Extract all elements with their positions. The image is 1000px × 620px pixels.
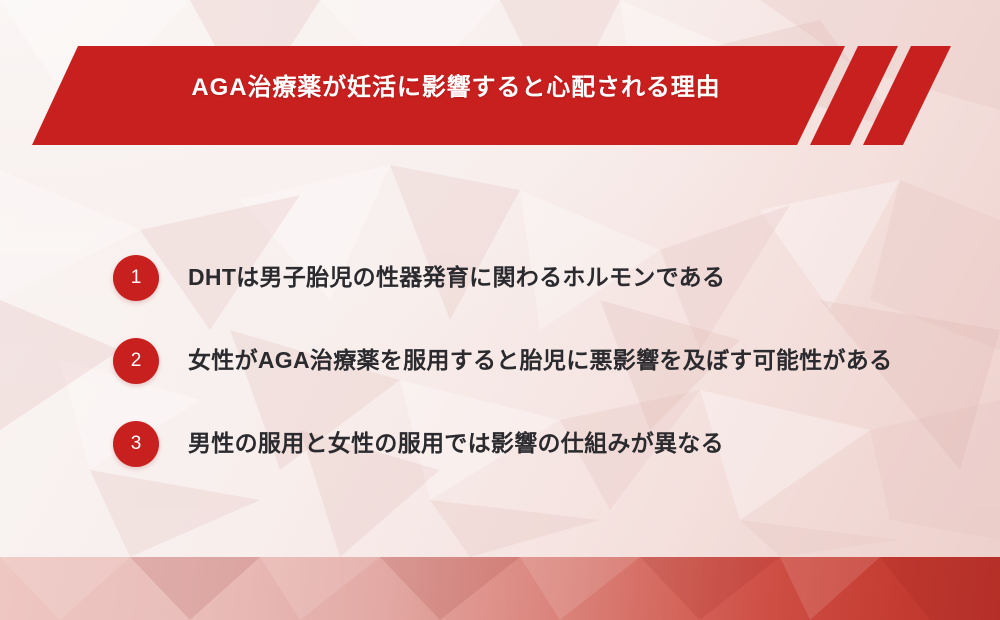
slide-canvas: AGA治療薬が妊活に影響すると心配される理由 1 DHTは男子胎児の性器発育に関…: [0, 0, 1000, 620]
list-item: 3 男性の服用と女性の服用では影響の仕組みが異なる: [113, 418, 993, 469]
list-item-number-badge: 2: [113, 338, 159, 384]
page-title: AGA治療薬が妊活に影響すると心配される理由: [0, 74, 912, 103]
list-item-number-badge: 1: [113, 255, 159, 301]
list-item: 2 女性がAGA治療薬を服用すると胎児に悪影響を及ぼす可能性がある: [113, 335, 993, 386]
bottom-accent-band: [0, 557, 1000, 620]
list-item-label: DHTは男子胎児の性器発育に関わるホルモンである: [188, 263, 725, 292]
list-item-number-badge: 3: [113, 421, 159, 467]
reasons-list: 1 DHTは男子胎児の性器発育に関わるホルモンである 2 女性がAGA治療薬を服…: [113, 252, 993, 469]
list-item-label: 男性の服用と女性の服用では影響の仕組みが異なる: [188, 429, 724, 458]
list-item: 1 DHTは男子胎児の性器発育に関わるホルモンである: [113, 252, 993, 303]
list-item-label: 女性がAGA治療薬を服用すると胎児に悪影響を及ぼす可能性がある: [188, 346, 892, 375]
